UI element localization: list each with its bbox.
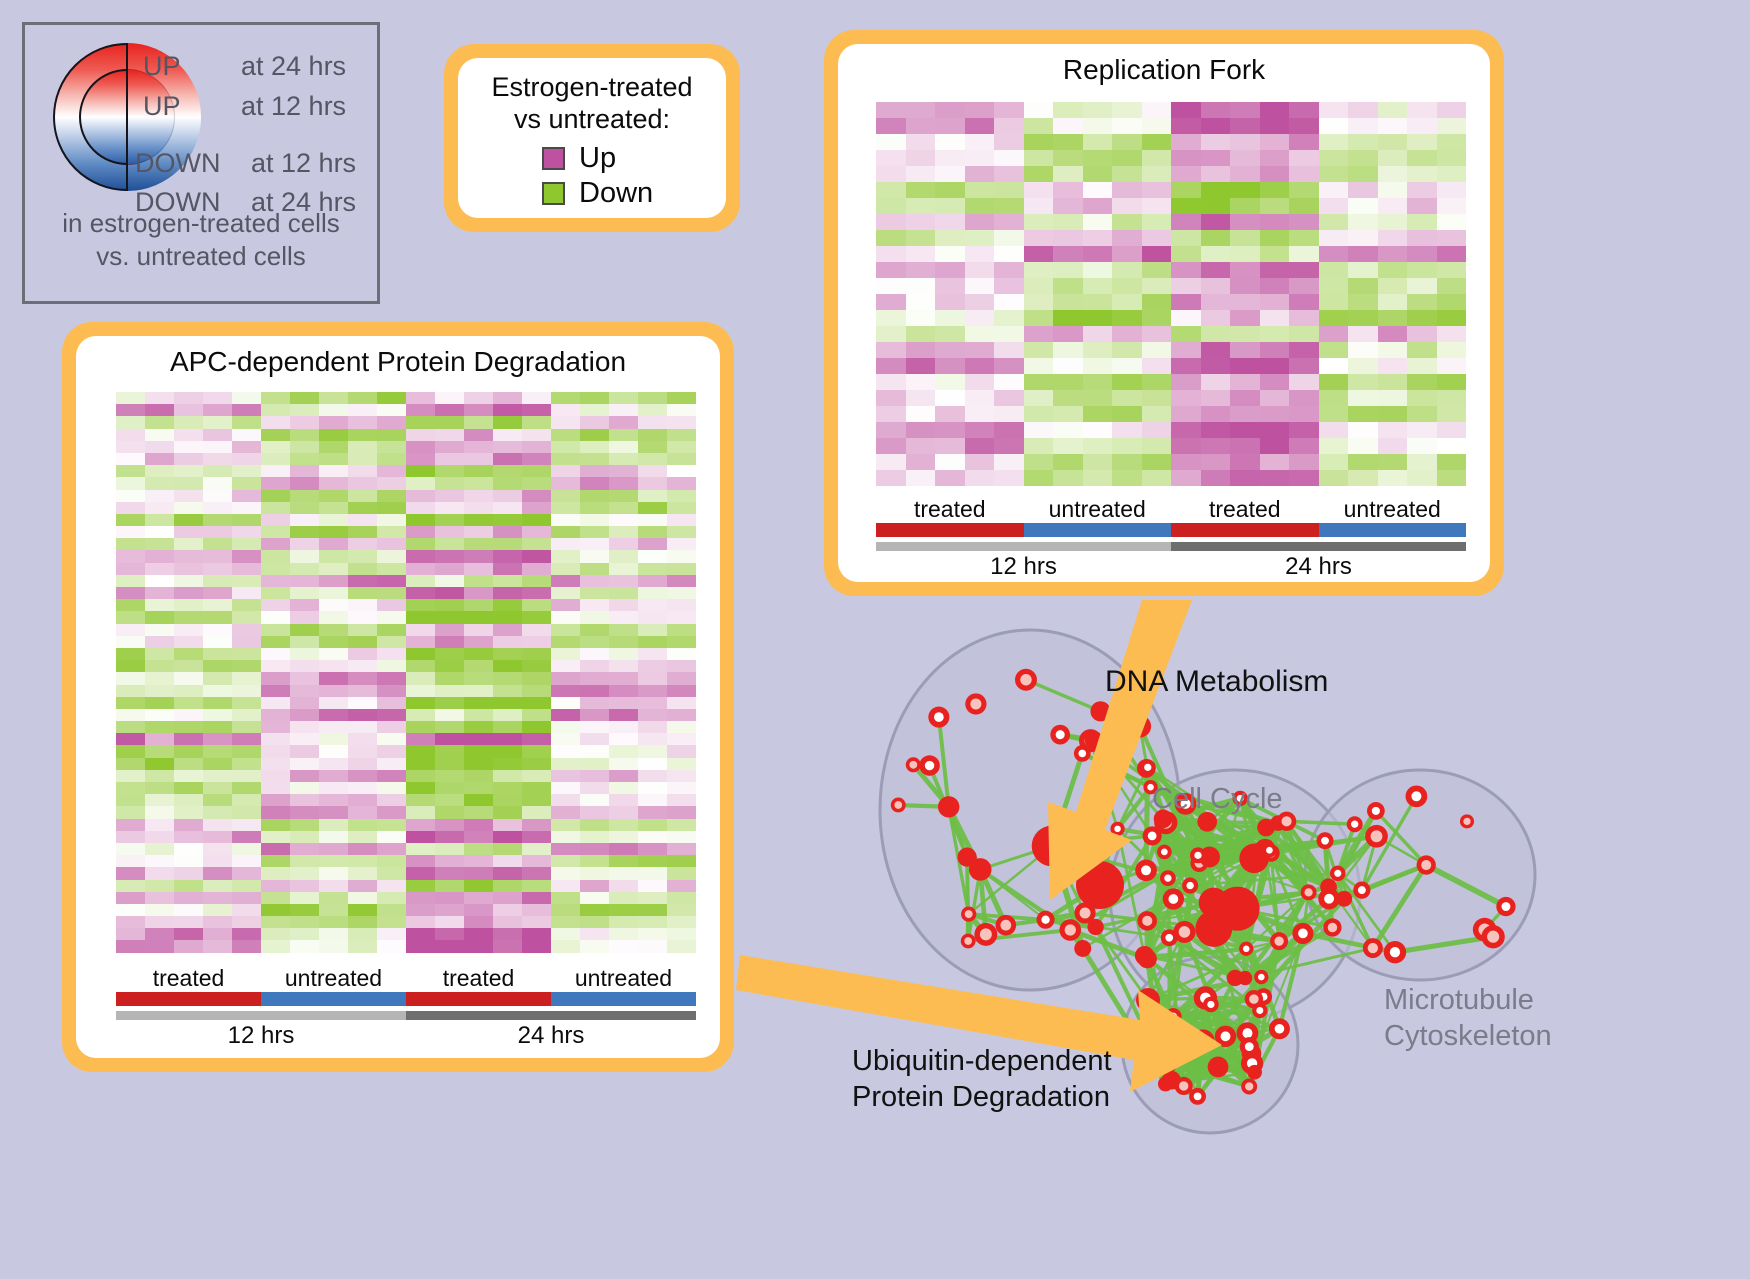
network-node-core [934,712,944,722]
network-node [1195,910,1232,947]
heatmap-cell [906,374,936,390]
heatmap-cell [906,246,936,262]
heatmap-cell [551,794,580,806]
heatmap-cell [261,733,290,745]
heatmap-cell [876,438,906,454]
network-edge [1070,855,1198,930]
heatmap-cell [551,819,580,831]
network-node [1160,1055,1177,1072]
heatmap-cell [1201,310,1231,326]
heatmap-cell [435,758,464,770]
heatmap-cell [145,892,174,904]
network-edge [1245,948,1373,978]
heatmap-cell [435,477,464,489]
heatmap-cell [1112,134,1142,150]
heatmap-cell [435,806,464,818]
heatmap-cell [377,599,406,611]
network-node [1140,759,1156,775]
apc-group-bar-2 [406,992,551,1006]
heatmap-cell [203,721,232,733]
heatmap-cell [116,587,145,599]
heatmap-cell [1142,182,1172,198]
heatmap-cell [1437,470,1467,486]
heatmap-cell [1083,134,1113,150]
heatmap-cell [435,733,464,745]
network-edge [1278,823,1329,887]
heatmap-cell [319,855,348,867]
apc-time-bars [116,1011,696,1020]
heatmap-cell [522,709,551,721]
heatmap-cell [580,782,609,794]
heatmap-cell [1378,454,1408,470]
heatmap-cell [174,892,203,904]
network-edge [1271,836,1376,853]
network-edge [1052,846,1083,948]
heatmap-cell [261,453,290,465]
heatmap-cell [464,770,493,782]
network-edge [1118,829,1145,956]
network-edge [1173,886,1190,1017]
heatmap-cell [493,624,522,636]
network-edge [1052,836,1152,846]
network-edge [1198,855,1238,908]
network-edge [1152,836,1199,863]
heatmap-cell [493,477,522,489]
heatmap-cell [609,490,638,502]
heatmap-cell [377,660,406,672]
heatmap-cell [1407,294,1437,310]
heatmap-cell [290,441,319,453]
network-edge [1148,1000,1203,1041]
heatmap-cell [232,904,261,916]
heatmap-cell [319,745,348,757]
network-edge [1246,941,1279,949]
network-edge [1278,823,1309,892]
network-node [1162,1071,1181,1090]
heatmap-cell [145,867,174,879]
heatmap-cell [1024,454,1054,470]
heatmap-cell [203,904,232,916]
network-edge [1269,850,1328,887]
heatmap-cell [261,904,290,916]
heatmap-cell [464,648,493,660]
network-edge [939,717,949,807]
network-edge [1164,828,1266,852]
heatmap-cell [348,745,377,757]
network-edge [1148,1000,1218,1067]
heatmap-cell [965,118,995,134]
heatmap-cell [232,721,261,733]
heatmap-cell [493,550,522,562]
network-edge [1211,1004,1260,1010]
heatmap-cell [1348,150,1378,166]
heatmap-cell [906,406,936,422]
heatmap-cell [377,392,406,404]
heatmap-cell [232,843,261,855]
heatmap-cell [638,770,667,782]
heatmap-cell [232,453,261,465]
network-edge [1083,886,1190,949]
heatmap-cell [435,550,464,562]
heatmap-cell [965,182,995,198]
heatmap-cell [493,880,522,892]
heatmap-cell [493,441,522,453]
network-node-core [1056,730,1065,739]
network-edge [1254,849,1265,858]
network-edge [969,846,1052,914]
key-direction-0: UP [143,51,181,82]
network-edge [1376,811,1426,865]
network-edge [1238,887,1329,909]
heatmap-cell [145,770,174,782]
heatmap-cell [232,441,261,453]
heatmap-cell [1053,358,1083,374]
heatmap-cell [580,758,609,770]
key-time-1: at 12 hrs [241,91,346,122]
heatmap-cell [406,770,435,782]
heatmap-cell [551,940,580,952]
heatmap-cell [203,806,232,818]
heatmap-cell [1260,134,1290,150]
heatmap-cell [261,685,290,697]
heatmap-cell [145,477,174,489]
heatmap-cell [174,526,203,538]
heatmap-cell [522,453,551,465]
network-edge [1169,938,1245,978]
heatmap-cell [174,819,203,831]
heatmap-cell [935,422,965,438]
network-node [1460,814,1474,828]
network-edge [1154,1041,1202,1064]
heatmap-cell [1407,454,1437,470]
heatmap-cell [994,358,1024,374]
network-node [1074,902,1095,923]
heatmap-cell [116,611,145,623]
heatmap-cell [348,550,377,562]
heatmap-cell [116,806,145,818]
heatmap-cell [261,831,290,843]
heatmap-cell [145,709,174,721]
heatmap-cell [580,563,609,575]
heatmap-cell [551,916,580,928]
heatmap-cell [464,441,493,453]
heatmap-cell [609,794,638,806]
network-edge [1184,928,1213,931]
heatmap-cell [522,392,551,404]
heatmap-cell [609,928,638,940]
heatmap-cell [522,477,551,489]
heatmap-cell [580,721,609,733]
heatmap-cell [580,928,609,940]
heatmap-cell [580,392,609,404]
heatmap-cell [1201,438,1231,454]
heatmap-cell [290,782,319,794]
heatmap-cell [319,392,348,404]
network-node-core [1194,852,1201,859]
heatmap-cell [348,404,377,416]
heatmap-cell [965,358,995,374]
network-node [1190,847,1206,863]
heatmap-cell [406,697,435,709]
network-edge [1166,823,1214,903]
heatmap-cell [1171,246,1201,262]
network-edge [1152,836,1173,899]
heatmap-cell [203,550,232,562]
legend-item-up: Up [542,142,716,175]
heatmap-cell [1142,214,1172,230]
heatmap-cell [906,102,936,118]
network-edge [1267,847,1332,928]
network-node-core [1372,807,1380,815]
heatmap-cell [1378,182,1408,198]
heatmap-cell [609,782,638,794]
heatmap-cell [203,733,232,745]
heatmap-cell [551,733,580,745]
network-edge [1173,850,1269,899]
heatmap-cell [580,843,609,855]
heatmap-cell [145,599,174,611]
network-edge [1214,928,1246,948]
heatmap-cell [232,916,261,928]
heatmap-cell [609,758,638,770]
heatmap-cell [261,611,290,623]
heatmap-cell [406,441,435,453]
heatmap-cell [290,429,319,441]
network-edge [1485,907,1506,930]
network-node-core [1194,1092,1202,1100]
heatmap-cell [551,624,580,636]
network-node-core [1020,674,1031,685]
network-edge [1148,932,1184,1000]
apc-card: APC-dependent Protein Degradation treate… [62,322,734,1072]
heatmap-cell [1171,134,1201,150]
heatmap-cell [377,892,406,904]
heatmap-cell [1112,454,1142,470]
heatmap-cell [319,733,348,745]
heatmap-cell [638,441,667,453]
heatmap-cell [667,770,696,782]
network-edge [1214,850,1270,902]
heatmap-cell [1319,214,1349,230]
network-node-core [1298,929,1308,939]
heatmap-cell [551,892,580,904]
heatmap-cell [1437,454,1467,470]
network-edge [1060,735,1094,740]
heatmap-cell [1260,294,1290,310]
network-edge [1226,1036,1250,1046]
network-node [1135,946,1154,965]
apc-time-labels: 12 hrs 24 hrs [116,1022,696,1050]
heatmap-cell [1378,342,1408,358]
heatmap-cell [348,599,377,611]
heatmap-cell [116,782,145,794]
network-node [1255,839,1276,860]
heatmap-cell [406,636,435,648]
network-edge [1205,978,1235,998]
network-node [1032,826,1073,867]
rf-group-bars [876,523,1466,537]
heatmap-cell [994,294,1024,310]
heatmap-cell [551,782,580,794]
heatmap-cell [1083,230,1113,246]
heatmap-cell [174,770,203,782]
heatmap-cell [522,465,551,477]
heatmap-cell [435,770,464,782]
heatmap-cell [522,745,551,757]
heatmap-cell [232,465,261,477]
heatmap-cell [1053,422,1083,438]
heatmap-cell [667,404,696,416]
heatmap-cell [319,794,348,806]
heatmap-cell [1407,278,1437,294]
network-edge [1218,999,1254,1067]
heatmap-cell [290,709,319,721]
heatmap-cell [319,599,348,611]
heatmap-cell [406,392,435,404]
network-edge [1198,1004,1211,1096]
network-node-core [1266,848,1275,857]
heatmap-cell [667,794,696,806]
heatmap-cell [290,416,319,428]
network-edge [1147,949,1246,959]
heatmap-cell [1230,198,1260,214]
network-edge [1164,823,1165,852]
heatmap-cell [876,134,906,150]
heatmap-cell [1142,198,1172,214]
heatmap-cell [493,453,522,465]
heatmap-cell [994,150,1024,166]
heatmap-cell [994,454,1024,470]
heatmap-cell [1407,230,1437,246]
heatmap-cell [580,404,609,416]
network-edge [1249,1029,1279,1047]
heatmap-cell [1112,246,1142,262]
heatmap-cell [377,819,406,831]
network-edge [1355,824,1427,865]
heatmap-cell [348,538,377,550]
network-edge [1052,846,1168,878]
heatmap-cell [609,806,638,818]
rf-time-labels: 12 hrs 24 hrs [876,553,1466,581]
network-edge [1156,1054,1249,1086]
heatmap-cell [406,904,435,916]
rf-group-label-3: untreated [1319,496,1467,523]
heatmap-cell [377,465,406,477]
network-edge [980,869,1045,919]
apc-group-bars [116,992,696,1006]
heatmap-cell [116,855,145,867]
network-edge [1271,853,1279,941]
heatmap-cell [116,867,145,879]
heatmap-cell [667,745,696,757]
network-node-core [1152,1050,1160,1058]
heatmap-cell [1083,118,1113,134]
heatmap-cell [319,526,348,538]
heatmap-cell [1260,182,1290,198]
heatmap-cell [493,770,522,782]
rf-time-label-24: 24 hrs [1171,553,1466,581]
heatmap-cell [1407,374,1437,390]
heatmap-cell [1171,262,1201,278]
heatmap-cell [493,416,522,428]
heatmap-cell [1053,406,1083,422]
network-node-core [964,937,972,945]
network-edge [1205,998,1218,1067]
network-edge [913,765,948,807]
heatmap-cell [290,563,319,575]
heatmap-cell [290,624,319,636]
network-node [1252,1003,1267,1018]
heatmap-cell [1053,198,1083,214]
network-node [1239,844,1269,874]
heatmap-cell [580,880,609,892]
heatmap-cell [1260,118,1290,134]
heatmap-cell [406,599,435,611]
network-edge [1214,892,1309,902]
heatmap-cell [609,441,638,453]
network-node [1239,942,1253,956]
heatmap-cell [1260,358,1290,374]
heatmap-cell [522,819,551,831]
heatmap-cell [1260,438,1290,454]
network-edge [1171,1054,1251,1081]
network-edge [1238,909,1303,934]
heatmap-cell [1024,214,1054,230]
network-edge [1287,821,1329,886]
heatmap-cell [261,916,290,928]
heatmap-cell [935,198,965,214]
heatmap-cell [261,697,290,709]
heatmap-cell [994,278,1024,294]
heatmap-cell [667,416,696,428]
heatmap-cell [906,214,936,230]
heatmap-cell [638,502,667,514]
rf-group-bar-2 [1171,523,1319,537]
network-node [1189,1088,1206,1105]
heatmap-cell [348,636,377,648]
network-edge [1254,899,1344,999]
heatmap-cell [290,928,319,940]
heatmap-cell [203,770,232,782]
heatmap-cell [609,502,638,514]
heatmap-cell [1378,230,1408,246]
heatmap-cell [145,624,174,636]
heatmap-cell [551,904,580,916]
network-edge [1238,909,1247,949]
key-time-0: at 24 hrs [241,51,346,82]
heatmap-cell [1348,246,1378,262]
network-edge [1211,1004,1280,1028]
heatmap-cell [906,470,936,486]
heatmap-cell [876,214,906,230]
heatmap-cell [522,648,551,660]
heatmap-cell [1112,294,1142,310]
heatmap-cell [319,575,348,587]
heatmap-cell [1083,470,1113,486]
network-edge [1226,1036,1252,1053]
key-direction-1: UP [143,91,181,122]
heatmap-cell [319,660,348,672]
heatmap-cell [609,672,638,684]
legend-label-down: Down [579,177,653,210]
heatmap-cell [1437,390,1467,406]
heatmap-cell [1142,230,1172,246]
heatmap-cell [1083,310,1113,326]
heatmap-cell [638,611,667,623]
network-node-core [1186,882,1193,889]
heatmap-cell [174,477,203,489]
network-edge [968,934,986,941]
